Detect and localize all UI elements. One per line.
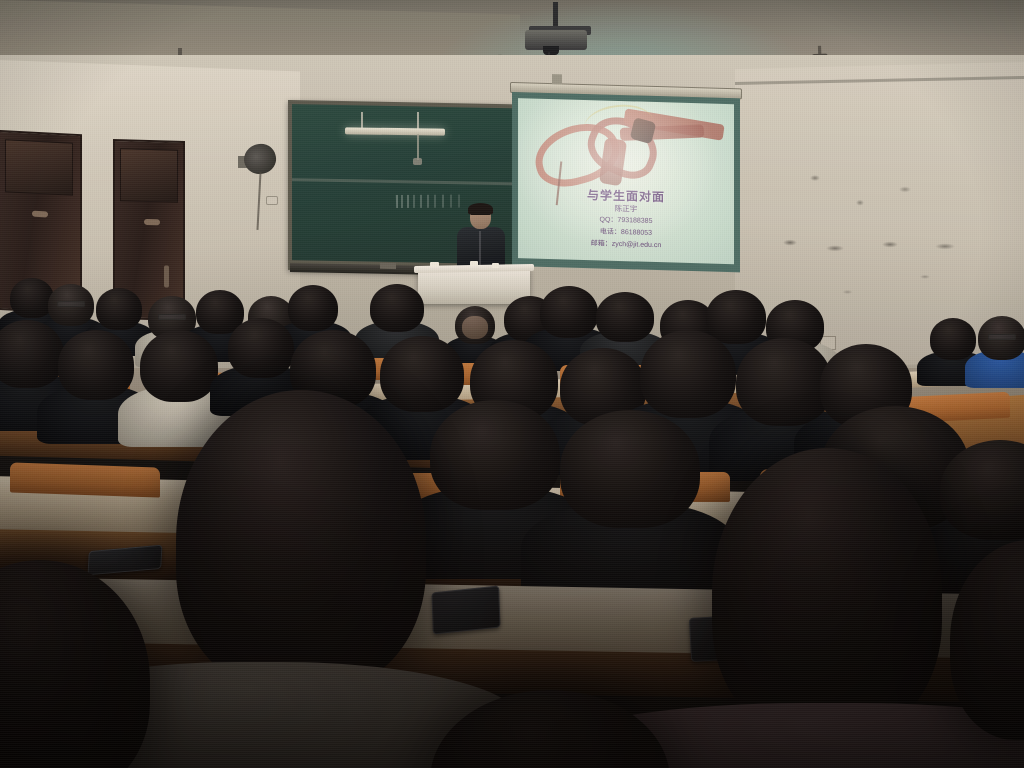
door-window (120, 148, 177, 202)
ceiling-light-spill (430, 0, 810, 62)
student (736, 338, 832, 426)
student (560, 410, 700, 528)
chalk-piece (430, 262, 439, 267)
door-handle-icon[interactable] (144, 219, 160, 225)
chalk-piece (492, 263, 499, 268)
door-window (5, 139, 74, 195)
door-handle-icon[interactable] (32, 211, 48, 218)
fluorescent-light (345, 112, 445, 152)
projection-screen: 与学生面对面 陈正宇 QQ：793188385 电话：86188053 邮箱：z… (512, 86, 740, 272)
glasses-icon (57, 301, 85, 307)
student (58, 330, 134, 400)
smartphone[interactable] (431, 585, 500, 634)
glasses-icon (471, 214, 490, 218)
ribbon-graphic-icon (528, 102, 728, 190)
student (96, 288, 142, 330)
jacket-zipper (479, 231, 481, 265)
student (540, 286, 598, 338)
glasses-icon (988, 334, 1017, 340)
lecture-hall-photo: 与学生面对面 陈正宇 QQ：793188385 电话：86188053 邮箱：z… (0, 0, 1024, 768)
student (0, 320, 64, 388)
wall-fan-icon (238, 140, 278, 184)
student (140, 330, 218, 402)
student (370, 284, 424, 332)
student (640, 330, 736, 418)
presentation-slide: 与学生面对面 陈正宇 QQ：793188385 电话：86188053 邮箱：z… (518, 98, 734, 264)
eraser-icon (380, 263, 396, 269)
chalk-piece (470, 261, 478, 266)
student (228, 318, 294, 378)
student (930, 318, 976, 360)
door-lock-icon[interactable] (164, 266, 169, 288)
student-blue-jacket (978, 316, 1024, 360)
wall-socket-icon (266, 196, 278, 205)
glasses-icon (158, 314, 187, 320)
student (940, 440, 1024, 540)
student (430, 400, 560, 510)
screen-mount-icon (552, 74, 562, 84)
student (288, 285, 338, 331)
seat-back (10, 462, 160, 497)
